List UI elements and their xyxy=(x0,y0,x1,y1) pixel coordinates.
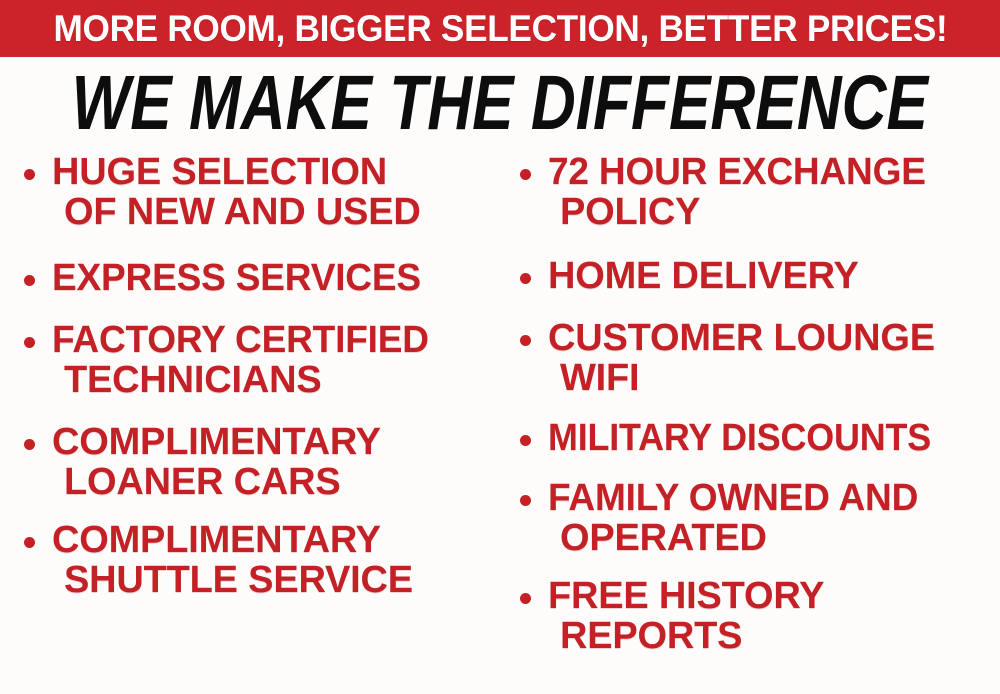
benefit-text-block: COMPLIMENTARYLOANER CARS xyxy=(52,422,502,502)
benefit-text-block: MILITARY DISCOUNTS xyxy=(548,418,1000,458)
benefit-text-block: FAMILY OWNED ANDOPERATED xyxy=(548,478,1000,558)
benefit-list-item: COMPLIMENTARYLOANER CARS xyxy=(12,422,502,502)
benefit-text-line: WIFI xyxy=(548,358,1000,398)
bullet-dot-icon xyxy=(24,275,35,286)
bullet-dot-icon xyxy=(520,495,531,506)
benefit-list-item: FREE HISTORYREPORTS xyxy=(508,576,1000,656)
benefit-text-line: OF NEW AND USED xyxy=(52,192,502,232)
benefit-text-block: HOME DELIVERY xyxy=(548,256,1000,296)
benefit-text-line: FACTORY CERTIFIED xyxy=(52,320,491,360)
benefit-text-line: COMPLIMENTARY xyxy=(52,520,502,560)
bullet-dot-icon xyxy=(24,537,35,548)
benefit-list-item: FAMILY OWNED ANDOPERATED xyxy=(508,478,1000,558)
benefit-text-line: 72 HOUR EXCHANGE xyxy=(548,152,989,192)
bullet-dot-icon xyxy=(520,435,531,446)
bullet-dot-icon xyxy=(520,593,531,604)
main-headline-container: WE MAKE THE DIFFERENCE xyxy=(0,66,1000,140)
bullet-dot-icon xyxy=(24,337,35,348)
benefit-text-line: REPORTS xyxy=(548,616,1000,656)
bullet-dot-icon xyxy=(24,439,35,450)
top-banner: MORE ROOM, BIGGER SELECTION, BETTER PRIC… xyxy=(0,0,1000,57)
benefit-list-item: COMPLIMENTARYSHUTTLE SERVICE xyxy=(12,520,502,600)
banner-headline-text: MORE ROOM, BIGGER SELECTION, BETTER PRIC… xyxy=(53,10,947,47)
benefit-text-block: 72 HOUR EXCHANGEPOLICY xyxy=(548,152,1000,232)
benefit-list-item: EXPRESS SERVICES xyxy=(12,258,502,298)
benefit-list-item: HUGE SELECTIONOF NEW AND USED xyxy=(12,152,502,232)
benefit-text-line: POLICY xyxy=(548,192,1000,232)
benefit-text-line: FREE HISTORY xyxy=(548,576,1000,616)
benefit-text-line: HOME DELIVERY xyxy=(548,256,1000,296)
bullet-dot-icon xyxy=(520,273,531,284)
benefit-text-block: FACTORY CERTIFIEDTECHNICIANS xyxy=(52,320,502,400)
benefit-text-line: SHUTTLE SERVICE xyxy=(52,560,502,600)
bullet-dot-icon xyxy=(520,335,531,346)
benefits-column-right: 72 HOUR EXCHANGEPOLICYHOME DELIVERYCUSTO… xyxy=(508,152,1000,694)
benefits-columns: HUGE SELECTIONOF NEW AND USEDEXPRESS SER… xyxy=(0,152,1000,694)
benefit-text-line: EXPRESS SERVICES xyxy=(52,258,491,298)
benefit-text-line: TECHNICIANS xyxy=(52,360,502,400)
benefit-text-block: CUSTOMER LOUNGEWIFI xyxy=(548,318,1000,398)
benefit-text-line: LOANER CARS xyxy=(52,462,502,502)
dealership-benefits-poster: MORE ROOM, BIGGER SELECTION, BETTER PRIC… xyxy=(0,0,1000,694)
bullet-dot-icon xyxy=(520,169,531,180)
benefit-list-item: MILITARY DISCOUNTS xyxy=(508,418,1000,458)
benefit-text-block: HUGE SELECTIONOF NEW AND USED xyxy=(52,152,502,232)
benefit-list-item: HOME DELIVERY xyxy=(508,256,1000,296)
benefit-text-block: EXPRESS SERVICES xyxy=(52,258,502,298)
page-title: WE MAKE THE DIFFERENCE xyxy=(72,65,928,142)
benefit-text-line: HUGE SELECTION xyxy=(52,152,502,192)
benefit-text-line: OPERATED xyxy=(548,518,1000,558)
bullet-dot-icon xyxy=(24,169,35,180)
benefit-list-item: FACTORY CERTIFIEDTECHNICIANS xyxy=(12,320,502,400)
benefit-text-block: COMPLIMENTARYSHUTTLE SERVICE xyxy=(52,520,502,600)
benefit-text-line: MILITARY DISCOUNTS xyxy=(548,418,975,458)
benefit-text-line: COMPLIMENTARY xyxy=(52,422,502,462)
benefit-list-item: 72 HOUR EXCHANGEPOLICY xyxy=(508,152,1000,232)
benefit-text-line: FAMILY OWNED AND xyxy=(548,478,989,518)
benefit-list-item: CUSTOMER LOUNGEWIFI xyxy=(508,318,1000,398)
benefit-text-line: CUSTOMER LOUNGE xyxy=(548,318,1000,358)
benefit-text-block: FREE HISTORYREPORTS xyxy=(548,576,1000,656)
benefits-column-left: HUGE SELECTIONOF NEW AND USEDEXPRESS SER… xyxy=(12,152,502,694)
